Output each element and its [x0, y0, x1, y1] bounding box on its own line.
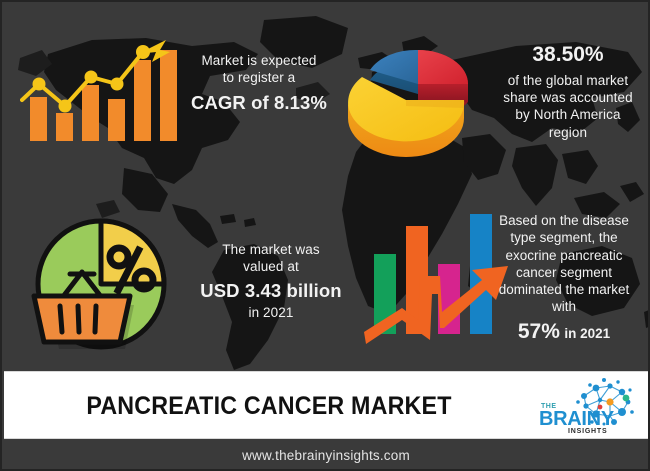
segment-line-4: cancer segment — [480, 264, 648, 281]
region-share-line-4: region — [490, 124, 646, 141]
trend-point-3 — [85, 71, 98, 84]
segment-line-3: exocrine pancreatic — [480, 247, 648, 264]
logo-accent-orange — [606, 398, 613, 405]
bar-4 — [108, 99, 125, 141]
cagr-text-block: Market is expected to register a CAGR of… — [184, 52, 334, 114]
page-title: PANCREATIC CANCER MARKET — [23, 372, 516, 440]
logo-insights-text: INSIGHTS — [568, 428, 607, 435]
segment-value: 57% — [518, 320, 560, 343]
footer-url[interactable]: www.thebrainyinsights.com — [4, 439, 648, 471]
bar-1 — [30, 97, 47, 141]
segment-value-year: in 2021 — [564, 326, 610, 341]
brainy-insights-logo[interactable]: THE BRAINY INSIGHTS — [536, 376, 640, 436]
region-share-value: 38.50% — [490, 42, 646, 69]
market-value-line-2: valued at — [188, 258, 354, 275]
segment-value-row: 57% in 2021 — [480, 319, 648, 346]
cagr-line-2: to register a — [184, 69, 334, 86]
market-value-amount: USD 3.43 billion — [188, 279, 354, 303]
market-value-text-block: The market was valued at USD 3.43 billio… — [188, 241, 354, 321]
basket-body — [34, 296, 130, 342]
logo-accent-green — [623, 395, 630, 402]
market-value-line-1: The market was — [188, 241, 354, 258]
cagr-value: CAGR of 8.13% — [184, 91, 334, 115]
region-share-text-block: 38.50% of the global market share was ac… — [490, 42, 646, 141]
segment-line-1: Based on the disease — [480, 212, 648, 229]
trend-point-5 — [136, 45, 150, 59]
region-share-line-3: by North America — [490, 106, 646, 123]
bar-5 — [134, 60, 151, 141]
bar-3 — [82, 85, 99, 141]
segment-line-5: dominated the market — [480, 281, 648, 298]
bar-6 — [160, 50, 177, 141]
segment-text-block: Based on the disease type segment, the e… — [480, 212, 648, 345]
infographic-root: Market is expected to register a CAGR of… — [0, 0, 650, 471]
regional-share-pie-chart — [340, 26, 490, 166]
logo-brainy-text: BRAINY — [539, 409, 614, 429]
market-value-year: in 2021 — [188, 304, 354, 321]
title-banner: PANCREATIC CANCER MARKET — [4, 371, 648, 439]
market-value-pie-chart — [20, 214, 182, 354]
region-share-line-2: share was accounted — [490, 89, 646, 106]
region-share-line-1: of the global market — [490, 72, 646, 89]
segment-line-6: with — [480, 298, 648, 315]
cagr-line-1: Market is expected — [184, 52, 334, 69]
trend-point-4 — [111, 78, 124, 91]
trend-point-2 — [59, 100, 72, 113]
bar-2 — [56, 113, 73, 141]
growth-bar-line-chart — [20, 28, 185, 144]
segment-line-2: type segment, the — [480, 229, 648, 246]
trend-point-1 — [33, 78, 46, 91]
